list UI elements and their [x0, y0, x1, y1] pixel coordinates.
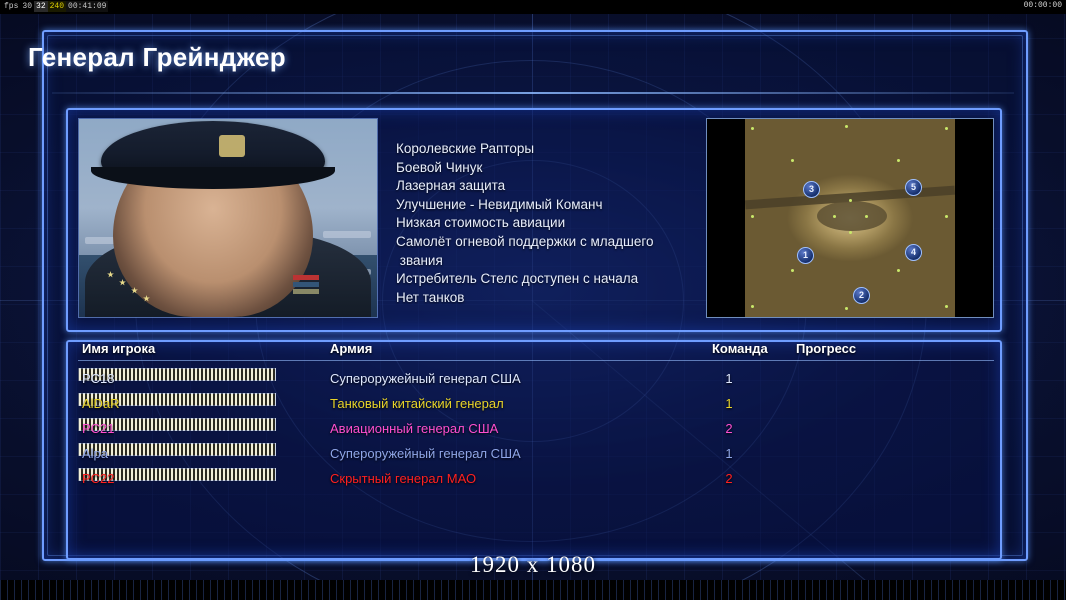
player-team: 2: [714, 421, 744, 436]
resolution-label: 1920 x 1080: [0, 552, 1066, 578]
player-name: AlDaR: [82, 396, 120, 411]
player-army: Супероружейный генерал США: [330, 371, 521, 386]
general-trait: Королевские Рапторы: [396, 140, 696, 159]
map-resource-dot: [751, 215, 754, 218]
general-portrait: [78, 118, 378, 318]
player-name: PC18: [82, 371, 115, 386]
map-preview: 12345: [706, 118, 994, 318]
table-row[interactable]: PC21Авиационный генерал США2: [78, 418, 994, 442]
fps-label: fps: [2, 1, 20, 12]
map-resource-dot: [791, 159, 794, 162]
ribbon-icon: [293, 289, 319, 294]
player-name: PC21: [82, 421, 115, 436]
page-title: Генерал Грейнджер: [28, 42, 286, 73]
column-header-team: Команда: [712, 341, 792, 361]
map-resource-dot: [845, 307, 848, 310]
column-header-army: Армия: [330, 341, 690, 361]
title-divider: [52, 92, 1014, 94]
player-army: Авиационный генерал США: [330, 421, 498, 436]
map-resource-dot: [945, 215, 948, 218]
map-start-position[interactable]: 3: [803, 181, 820, 198]
clock-readout: 00:00:00: [1024, 1, 1062, 10]
table-row[interactable]: PC22Скрытный генерал МАО2: [78, 468, 994, 492]
map-resource-dot: [833, 215, 836, 218]
general-trait: Улучшение - Невидимый Команч: [396, 196, 696, 215]
general-trait: Истребитель Стелс доступен с начала: [396, 270, 696, 289]
column-header-progress: Прогресс: [796, 341, 996, 361]
player-team: 1: [714, 396, 744, 411]
player-name: PC22: [82, 471, 115, 486]
performance-readout: fps 30 32 240 00:41:09: [2, 1, 108, 12]
map-center-feature: [817, 201, 887, 231]
table-row[interactable]: AlDaRТанковый китайский генерал1: [78, 393, 994, 417]
map-resource-dot: [751, 305, 754, 308]
map-resource-dot: [845, 125, 848, 128]
map-resource-dot: [849, 199, 852, 202]
map-resource-dot: [945, 305, 948, 308]
map-resource-dot: [791, 269, 794, 272]
table-row[interactable]: PC18Супероружейный генерал США1: [78, 368, 994, 392]
general-trait: Лазерная защита: [396, 177, 696, 196]
map-resource-dot: [849, 231, 852, 234]
player-team: 1: [714, 446, 744, 461]
general-traits-list: Королевские РапторыБоевой ЧинукЛазерная …: [396, 140, 696, 307]
general-trait: Боевой Чинук: [396, 159, 696, 178]
header-divider: [78, 360, 994, 361]
map-resource-dot: [897, 159, 900, 162]
general-trait: Низкая стоимость авиации: [396, 214, 696, 233]
bottom-tick-strip: [0, 580, 1066, 600]
general-trait: звания: [396, 252, 696, 271]
map-resource-dot: [865, 215, 868, 218]
player-army: Скрытный генерал МАО: [330, 471, 476, 486]
player-army: Супероружейный генерал США: [330, 446, 521, 461]
portrait-ship-2: [323, 231, 371, 238]
general-trait: Самолёт огневой поддержки с младшего: [396, 233, 696, 252]
map-resource-dot: [945, 127, 948, 130]
column-header-player: Имя игрока: [82, 341, 322, 361]
player-team: 1: [714, 371, 744, 386]
map-start-position[interactable]: 1: [797, 247, 814, 264]
general-trait: Нет танков: [396, 289, 696, 308]
game-screen: fps 30 32 240 00:41:09 00:00:00 Генерал …: [0, 0, 1066, 600]
cap-badge-icon: [219, 135, 245, 157]
map-start-position[interactable]: 4: [905, 244, 922, 261]
ribbon-icon: [293, 275, 319, 280]
fps-value-2: 32: [34, 1, 48, 12]
map-resource-dot: [897, 269, 900, 272]
bottom-hud-bar: [0, 580, 1066, 600]
player-team: 2: [714, 471, 744, 486]
table-row[interactable]: AlpaСупероружейный генерал США1: [78, 443, 994, 467]
player-army: Танковый китайский генерал: [330, 396, 504, 411]
map-resource-dot: [751, 127, 754, 130]
map-start-position[interactable]: 2: [853, 287, 870, 304]
fps-value-3: 240: [48, 1, 66, 12]
fps-value: 30: [20, 1, 34, 12]
ribbon-icon: [293, 282, 319, 287]
map-start-position[interactable]: 5: [905, 179, 922, 196]
session-timer: 00:41:09: [66, 1, 108, 12]
player-name: Alpa: [82, 446, 108, 461]
top-hud-bar: fps 30 32 240 00:41:09 00:00:00: [0, 0, 1066, 14]
map-terrain: 12345: [745, 119, 955, 317]
